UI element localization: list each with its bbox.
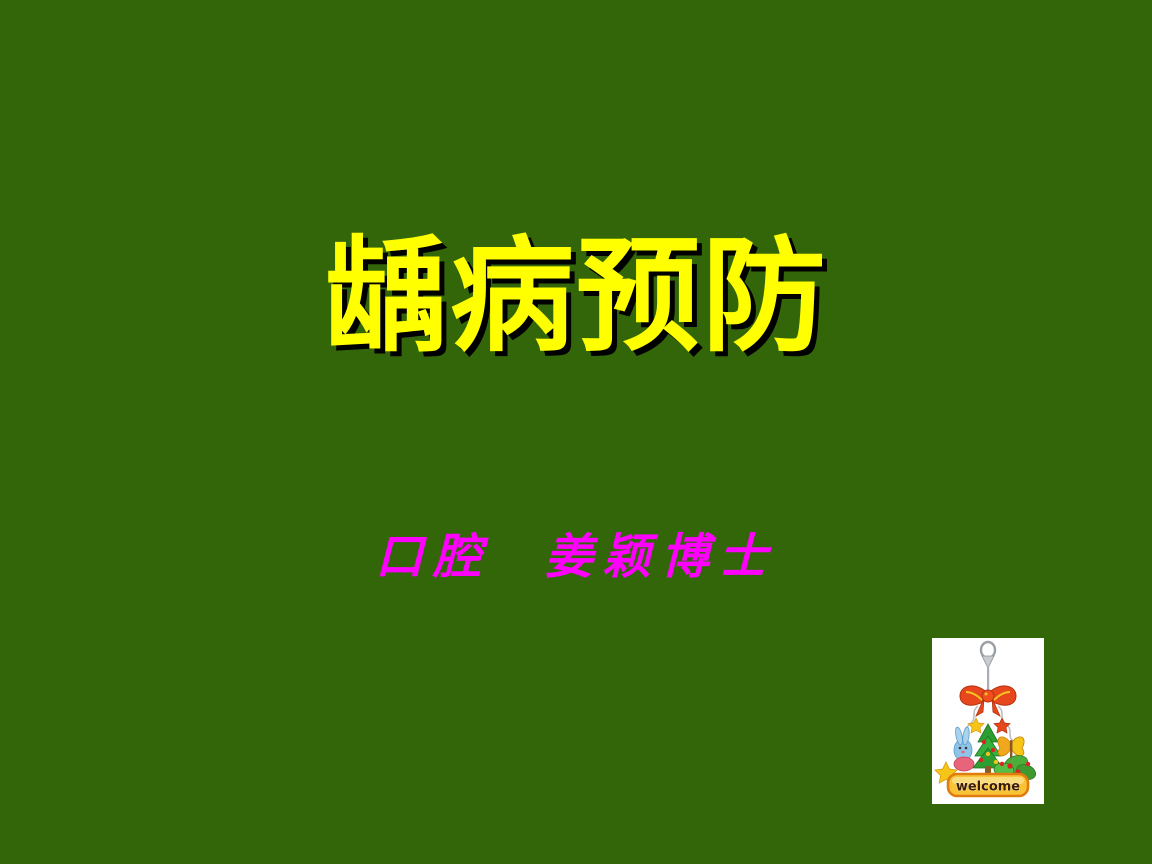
presenter-subtitle: 口腔 姜颖博士 xyxy=(0,517,1152,587)
page-title: 龋病预防 xyxy=(0,232,1152,362)
welcome-clipart-panel: welcome xyxy=(932,638,1044,804)
slide-canvas: 龋病预防 口腔 姜颖博士 xyxy=(0,0,1152,864)
welcome-plaque: welcome xyxy=(948,774,1028,796)
welcome-decoration-icon: welcome xyxy=(932,638,1044,804)
welcome-plaque-label: welcome xyxy=(956,780,1020,795)
red-bow-icon xyxy=(960,686,1016,716)
